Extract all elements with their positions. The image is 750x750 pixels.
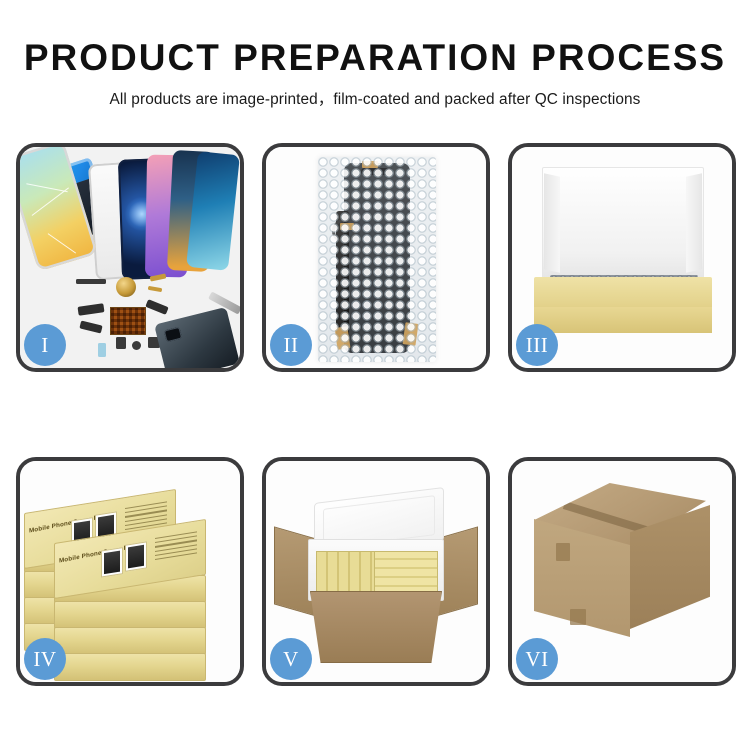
step-badge-1: I	[24, 324, 66, 366]
carton-tape-lower	[570, 609, 586, 625]
open-inner-box	[528, 165, 718, 355]
box-spec-lines-front	[155, 531, 197, 568]
flex-cable-b	[79, 320, 102, 333]
bubble-texture	[318, 157, 436, 362]
bubble-wrap-bag	[318, 157, 436, 362]
carton-tape-upper	[556, 543, 570, 561]
button-part-a	[116, 337, 126, 349]
flex-cable-a	[78, 303, 105, 316]
process-step-grid: I II	[16, 143, 736, 686]
phone-back-housing	[154, 307, 240, 368]
step-panel-1[interactable]: I	[16, 143, 244, 372]
connector-chip-part	[110, 307, 146, 335]
packed-boxes-row-b	[374, 551, 438, 595]
step-badge-4: IV	[24, 638, 66, 680]
flex-cable-c	[145, 299, 168, 315]
box-tray-front-panel	[534, 307, 712, 333]
sensor-part	[98, 343, 106, 357]
box-lid-white	[542, 167, 704, 287]
step-badge-3: III	[516, 324, 558, 366]
step-badge-6: VI	[516, 638, 558, 680]
page-title: PRODUCT PREPARATION PROCESS	[0, 38, 750, 78]
step-panel-3[interactable]: III	[508, 143, 736, 372]
page-subtitle: All products are image-printed，film-coat…	[0, 87, 750, 109]
earpiece-mesh-part	[76, 279, 106, 284]
vibration-motor-part	[116, 277, 136, 297]
stacked-box-f3	[54, 627, 206, 655]
gold-flex-part-b	[148, 286, 162, 292]
stacked-box-f4	[54, 653, 206, 681]
carton-body	[310, 591, 442, 663]
page-header: PRODUCT PREPARATION PROCESS All products…	[0, 0, 750, 109]
box-thumb-front-b	[125, 541, 147, 571]
sealed-carton	[526, 483, 722, 673]
step-badge-2: II	[270, 324, 312, 366]
stacked-box-f2	[54, 601, 206, 629]
step-panel-5[interactable]: V	[262, 457, 490, 686]
step-panel-2[interactable]: II	[262, 143, 490, 372]
step-badge-5: V	[270, 638, 312, 680]
button-part-b	[132, 341, 141, 350]
step-panel-4[interactable]: Mobile Phone Spare Parts Mobile Phone Sp…	[16, 457, 244, 686]
step-panel-6[interactable]: VI	[508, 457, 736, 686]
box-thumb-front-a	[101, 547, 123, 577]
